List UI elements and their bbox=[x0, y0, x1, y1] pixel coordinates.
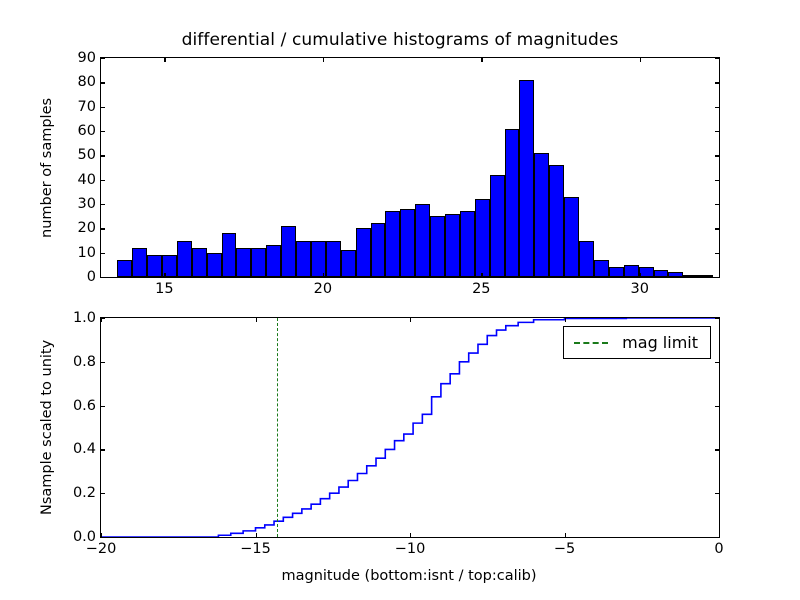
x-tick-label: 20 bbox=[314, 281, 332, 297]
histogram-bar bbox=[683, 275, 698, 277]
axis-tick bbox=[410, 533, 411, 537]
histogram-bar bbox=[296, 241, 311, 278]
x-tick-label: −5 bbox=[554, 541, 575, 557]
axis-tick bbox=[715, 82, 719, 83]
axis-tick bbox=[715, 406, 719, 407]
axis-tick bbox=[101, 533, 102, 537]
axis-tick bbox=[640, 273, 641, 277]
legend[interactable]: mag limit bbox=[563, 326, 711, 359]
y-tick-label: 70 bbox=[78, 99, 96, 115]
differential-histogram-plot-area bbox=[101, 58, 719, 277]
histogram-bar bbox=[371, 223, 386, 277]
x-tick-label: −15 bbox=[240, 541, 271, 557]
axis-tick bbox=[101, 155, 105, 156]
x-tick-label: 0 bbox=[714, 541, 723, 557]
axis-tick bbox=[715, 107, 719, 108]
axis-tick bbox=[101, 253, 105, 254]
y-tick-label: 1.0 bbox=[73, 310, 96, 326]
histogram-bar bbox=[490, 175, 505, 277]
y-tick-label: 0 bbox=[87, 269, 96, 285]
cumulative-histogram-axes: Nsample scaled to unity mag limit 0.00.2… bbox=[100, 317, 720, 538]
axis-tick bbox=[481, 58, 482, 62]
histogram-bar bbox=[475, 199, 490, 277]
histogram-bar bbox=[311, 241, 326, 278]
differential-histogram-axes: number of samples 0102030405060708090152… bbox=[100, 57, 720, 278]
axis-tick bbox=[101, 107, 105, 108]
axis-tick bbox=[101, 362, 105, 363]
axis-tick bbox=[715, 131, 719, 132]
histogram-bar bbox=[609, 267, 624, 277]
axis-tick bbox=[640, 58, 641, 62]
y-tick-label: 90 bbox=[78, 50, 96, 66]
histogram-bar bbox=[668, 272, 683, 277]
histogram-bar bbox=[192, 248, 207, 277]
histogram-bar bbox=[698, 275, 713, 277]
histogram-bar bbox=[519, 80, 534, 277]
axis-tick bbox=[164, 273, 165, 277]
y-tick-label: 0.6 bbox=[73, 398, 96, 414]
axis-tick bbox=[715, 493, 719, 494]
axis-tick bbox=[323, 273, 324, 277]
axis-tick bbox=[715, 180, 719, 181]
histogram-bar bbox=[624, 265, 639, 277]
axis-tick bbox=[715, 204, 719, 205]
y-tick-label: 10 bbox=[78, 245, 96, 261]
axis-tick bbox=[164, 58, 165, 62]
axis-tick bbox=[719, 318, 720, 322]
histogram-bar bbox=[222, 233, 237, 277]
histogram-bar bbox=[147, 255, 162, 277]
y-tick-label: 0.2 bbox=[73, 485, 96, 501]
histogram-bar bbox=[579, 241, 594, 278]
histogram-bar bbox=[415, 204, 430, 277]
axis-tick bbox=[101, 449, 105, 450]
axis-tick bbox=[101, 58, 105, 59]
histogram-bar bbox=[177, 241, 192, 278]
y-tick-label: 0.8 bbox=[73, 354, 96, 370]
axis-tick bbox=[715, 58, 719, 59]
x-axis-title: magnitude (bottom:isnt / top:calib) bbox=[282, 568, 537, 584]
axis-tick bbox=[256, 533, 257, 537]
axis-tick bbox=[715, 155, 719, 156]
axis-tick bbox=[101, 82, 105, 83]
histogram-bar bbox=[117, 260, 132, 277]
histogram-bar bbox=[505, 129, 520, 277]
axis-tick bbox=[101, 537, 105, 538]
x-tick-label: 15 bbox=[155, 281, 173, 297]
axis-tick bbox=[101, 228, 105, 229]
axis-tick bbox=[715, 253, 719, 254]
histogram-bar bbox=[341, 250, 356, 277]
bottom-y-axis-title: Nsample scaled to unity bbox=[39, 340, 55, 515]
mag-limit-legend-swatch bbox=[574, 342, 608, 344]
x-tick-label: 30 bbox=[631, 281, 649, 297]
y-tick-label: 80 bbox=[78, 74, 96, 90]
y-tick-label: 20 bbox=[78, 220, 96, 236]
histogram-bar bbox=[594, 260, 609, 277]
axis-tick bbox=[715, 228, 719, 229]
histogram-bar bbox=[564, 197, 579, 277]
axis-tick bbox=[715, 537, 719, 538]
y-tick-label: 0.4 bbox=[73, 441, 96, 457]
histogram-bar bbox=[534, 153, 549, 277]
axis-tick bbox=[101, 277, 105, 278]
axis-tick bbox=[323, 58, 324, 62]
y-tick-label: 60 bbox=[78, 123, 96, 139]
axis-tick bbox=[410, 318, 411, 322]
histogram-bar bbox=[430, 216, 445, 277]
y-tick-label: 40 bbox=[78, 172, 96, 188]
axis-tick bbox=[101, 131, 105, 132]
axis-tick bbox=[101, 180, 105, 181]
x-tick-label: −10 bbox=[395, 541, 426, 557]
histogram-bar bbox=[281, 226, 296, 277]
histogram-bar bbox=[132, 248, 147, 277]
axis-tick bbox=[565, 318, 566, 322]
histogram-bar bbox=[236, 248, 251, 277]
histogram-bar bbox=[207, 253, 222, 277]
y-tick-label: 30 bbox=[78, 196, 96, 212]
figure-title: differential / cumulative histograms of … bbox=[0, 30, 800, 50]
axis-tick bbox=[715, 277, 719, 278]
axis-tick bbox=[101, 493, 105, 494]
figure: differential / cumulative histograms of … bbox=[0, 0, 800, 600]
axis-tick bbox=[715, 449, 719, 450]
histogram-bar bbox=[385, 211, 400, 277]
axis-tick bbox=[101, 204, 105, 205]
histogram-bar bbox=[326, 241, 341, 278]
histogram-bar bbox=[266, 245, 281, 277]
histogram-bar bbox=[460, 211, 475, 277]
axis-tick bbox=[715, 362, 719, 363]
axis-tick bbox=[719, 533, 720, 537]
histogram-bar bbox=[549, 165, 564, 277]
axis-tick bbox=[481, 273, 482, 277]
axis-tick bbox=[101, 318, 102, 322]
histogram-bar bbox=[356, 228, 371, 277]
histogram-bar bbox=[400, 209, 415, 277]
histogram-bar bbox=[654, 270, 669, 277]
y-tick-label: 50 bbox=[78, 147, 96, 163]
histogram-bar bbox=[251, 248, 266, 277]
mag-limit-legend-label: mag limit bbox=[622, 333, 698, 352]
x-tick-label: −20 bbox=[86, 541, 117, 557]
x-tick-label: 25 bbox=[472, 281, 490, 297]
mag-limit-line bbox=[277, 318, 278, 537]
axis-tick bbox=[101, 406, 105, 407]
top-y-axis-title: number of samples bbox=[39, 97, 55, 237]
histogram-bar bbox=[445, 214, 460, 277]
axis-tick bbox=[565, 533, 566, 537]
axis-tick bbox=[256, 318, 257, 322]
